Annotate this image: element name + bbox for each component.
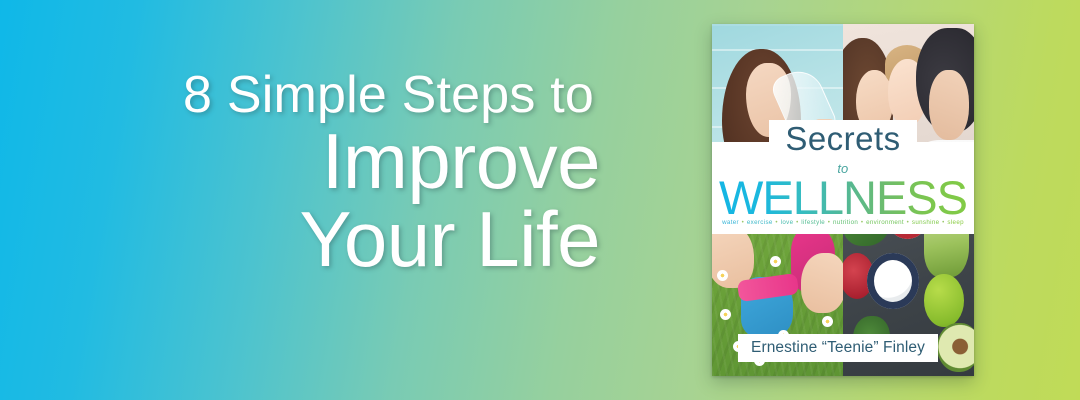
headline-line-1: 8 Simple Steps to	[40, 70, 600, 121]
headline: 8 Simple Steps to Improve Your Life	[40, 70, 600, 278]
headline-line-3: Your Life	[40, 201, 600, 277]
tagline-separator: •	[794, 219, 801, 226]
headline-line-2: Improve	[40, 123, 600, 199]
tagline-item: sunshine	[911, 219, 940, 226]
tagline-item: environment	[866, 219, 905, 226]
tagline-item: sleep	[947, 219, 965, 226]
tagline-separator: •	[859, 219, 866, 226]
book-author-name: Ernestine “Teenie” Finley	[751, 339, 925, 357]
book-title-main: Secrets	[785, 122, 900, 155]
book-title-emphasis: WELLNESS	[719, 174, 967, 221]
tagline-item: water	[722, 219, 740, 226]
book-tagline: water•exercise•love•lifestyle•nutrition•…	[712, 220, 974, 226]
tagline-item: nutrition	[833, 219, 859, 226]
book-cover[interactable]: Secrets to WELLNESS water•exercise•love•…	[712, 24, 974, 376]
tagline-item: love	[780, 219, 794, 226]
promo-banner: 8 Simple Steps to Improve Your Life	[0, 0, 1080, 400]
book-author-plate: Ernestine “Teenie” Finley	[738, 334, 938, 362]
tagline-separator: •	[826, 219, 833, 226]
tagline-item: lifestyle	[801, 219, 826, 226]
tagline-separator: •	[940, 219, 947, 226]
tagline-item: exercise	[746, 219, 773, 226]
